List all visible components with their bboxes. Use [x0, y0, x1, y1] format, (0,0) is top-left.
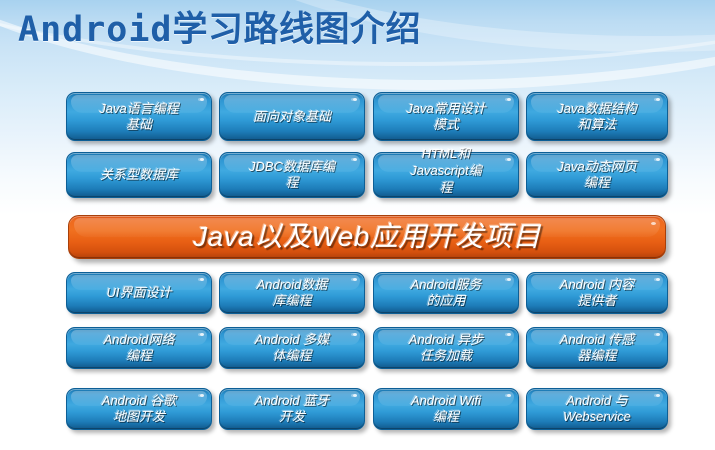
node-java-design-patterns[interactable]: Java常用设计 模式: [373, 92, 519, 141]
node-label: Android Wifi 编程: [374, 393, 518, 425]
node-android-network-programming[interactable]: Android网络 编程: [66, 327, 212, 369]
node-java-language-basics[interactable]: Java语言编程 基础: [66, 92, 212, 141]
node-label: Android数据 库编程: [220, 277, 364, 309]
node-relational-database[interactable]: 关系型数据库: [66, 152, 212, 198]
node-android-wifi[interactable]: Android Wifi 编程: [373, 388, 519, 430]
node-label: Android 内容 提供者: [527, 277, 667, 309]
node-android-webservice[interactable]: Android 与 Webservice: [526, 388, 668, 430]
node-jdbc-database-programming[interactable]: JDBC数据库编 程: [219, 152, 365, 198]
node-label: Android 异步 任务加载: [374, 332, 518, 364]
node-android-multimedia[interactable]: Android 多媒 体编程: [219, 327, 365, 369]
node-oop-basics[interactable]: 面向对象基础: [219, 92, 365, 141]
page-title: Android学习路线图介绍: [18, 8, 421, 52]
node-android-content-provider[interactable]: Android 内容 提供者: [526, 272, 668, 314]
node-android-google-maps[interactable]: Android 谷歌 地图开发: [66, 388, 212, 430]
node-label: Java常用设计 模式: [374, 101, 518, 133]
node-html-javascript-programming[interactable]: HTML和 Javascript编 程: [373, 152, 519, 198]
page-title-latin: Android: [18, 10, 173, 50]
node-label: Java数据结构 和算法: [527, 101, 667, 133]
node-label: Android 蓝牙 开发: [220, 393, 364, 425]
slide-canvas: Android学习路线图介绍 Java语言编程 基础 面向对象基础 Java常用…: [0, 0, 715, 450]
banner-label: Java以及Web应用开发项目: [69, 221, 665, 253]
node-android-services[interactable]: Android服务 的应用: [373, 272, 519, 314]
node-label: Android 多媒 体编程: [220, 332, 364, 364]
node-label: Android网络 编程: [67, 332, 211, 364]
node-android-database-programming[interactable]: Android数据 库编程: [219, 272, 365, 314]
node-label: Android服务 的应用: [374, 277, 518, 309]
page-title-cjk: 学习路线图介绍: [173, 10, 422, 50]
node-ui-design[interactable]: UI界面设计: [66, 272, 212, 314]
node-label: Android 传感 器编程: [527, 332, 667, 364]
node-label: 关系型数据库: [67, 167, 211, 183]
node-label: Android 与 Webservice: [527, 393, 667, 425]
node-label: HTML和 Javascript编 程: [374, 145, 518, 196]
node-label: 面向对象基础: [220, 109, 364, 125]
node-android-bluetooth[interactable]: Android 蓝牙 开发: [219, 388, 365, 430]
node-label: Java动态网页 编程: [527, 159, 667, 191]
node-android-sensor-programming[interactable]: Android 传感 器编程: [526, 327, 668, 369]
node-label: JDBC数据库编 程: [220, 159, 364, 191]
node-java-dynamic-web-pages[interactable]: Java动态网页 编程: [526, 152, 668, 198]
node-java-data-structures[interactable]: Java数据结构 和算法: [526, 92, 668, 141]
node-android-async-task[interactable]: Android 异步 任务加载: [373, 327, 519, 369]
node-label: UI界面设计: [67, 285, 211, 301]
banner-java-web-project[interactable]: Java以及Web应用开发项目: [68, 215, 666, 259]
node-label: Android 谷歌 地图开发: [67, 393, 211, 425]
node-label: Java语言编程 基础: [67, 101, 211, 133]
